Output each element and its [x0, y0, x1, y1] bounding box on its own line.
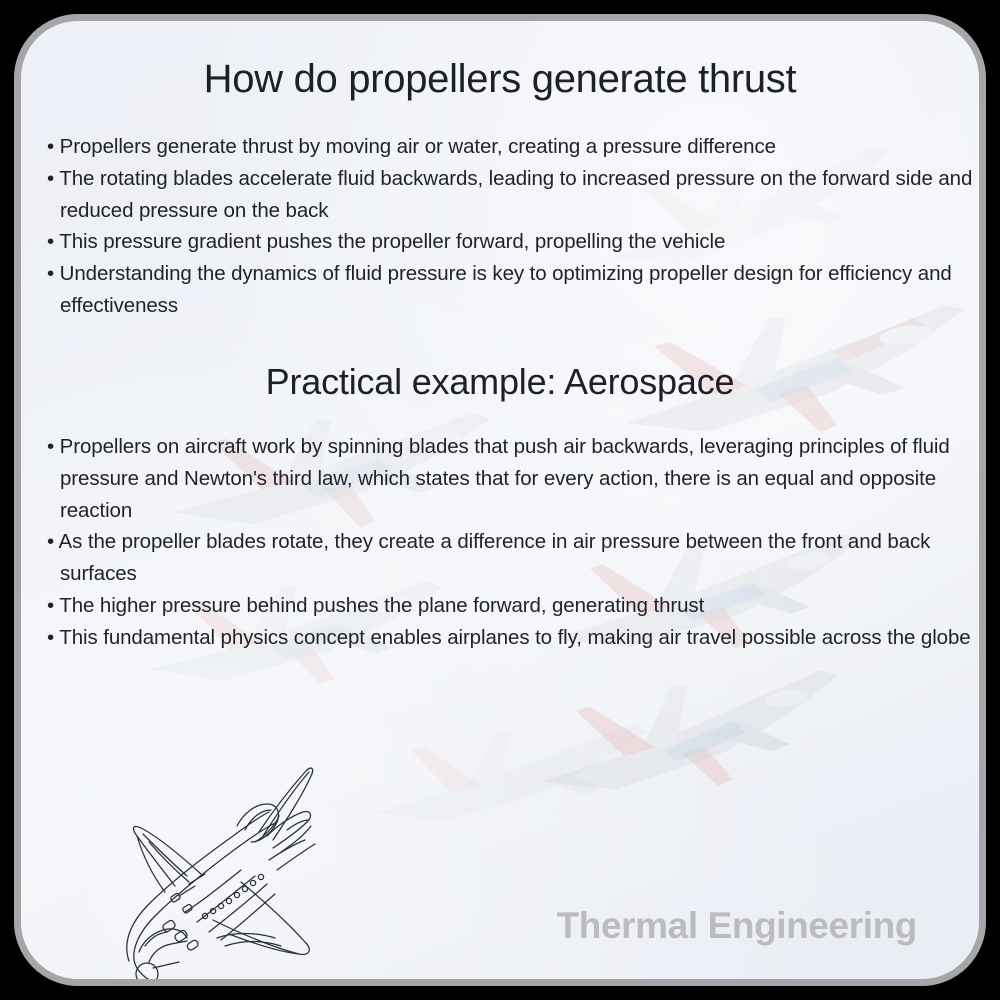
example-bullet-list: • Propellers on aircraft work by spinnin…	[47, 431, 977, 654]
slide-frame: How do propellers generate thrust • Prop…	[14, 14, 986, 986]
slide-content: How do propellers generate thrust • Prop…	[21, 21, 979, 979]
section-heading: Practical example: Aerospace	[21, 361, 979, 403]
brand-wordmark: Thermal Engineering	[557, 905, 917, 947]
list-item: • This pressure gradient pushes the prop…	[47, 226, 977, 258]
list-item: • The higher pressure behind pushes the …	[47, 590, 977, 622]
list-item: • This fundamental physics concept enabl…	[47, 622, 977, 654]
list-item: • Propellers on aircraft work by spinnin…	[47, 431, 977, 526]
space-shuttle-illustration	[109, 756, 349, 986]
list-item: • Understanding the dynamics of fluid pr…	[47, 258, 977, 322]
list-item: • Propellers generate thrust by moving a…	[47, 131, 977, 163]
list-item: • As the propeller blades rotate, they c…	[47, 526, 977, 590]
page-title: How do propellers generate thrust	[21, 57, 979, 102]
list-item: • The rotating blades accelerate fluid b…	[47, 163, 977, 227]
intro-bullet-list: • Propellers generate thrust by moving a…	[47, 131, 977, 322]
